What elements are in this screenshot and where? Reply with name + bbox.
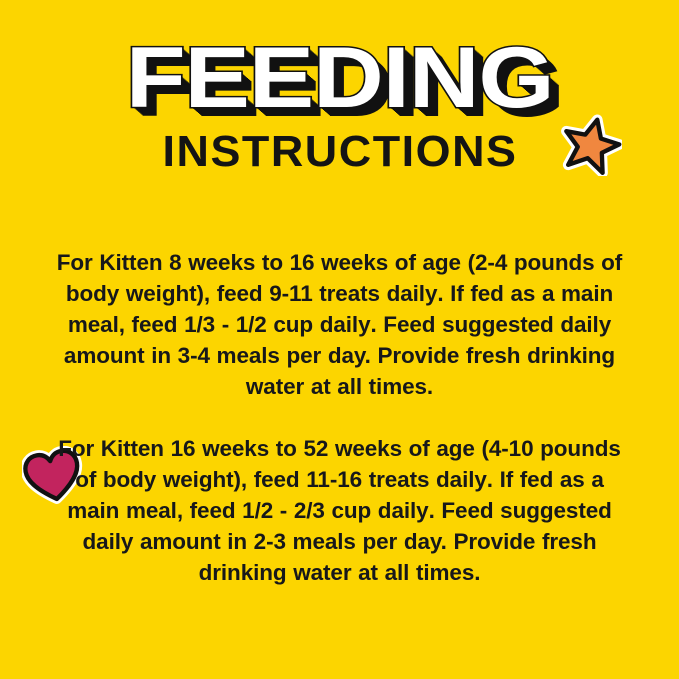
feeding-instructions-poster: FEEDING INSTRUCTIONS For Kitten 8 weeks … [0,0,679,679]
feeding-instruction-paragraph: For Kitten 16 weeks to 52 weeks of age (… [50,433,630,588]
emphasis-text: 8 weeks to 16 weeks of age [169,250,461,275]
page-title: FEEDING [126,38,554,120]
feeding-instruction-paragraph: For Kitten 8 weeks to 16 weeks of age (2… [50,247,630,402]
emphasis-text: 1/2 - 2/3 cup daily [242,498,428,523]
page-subtitle: INSTRUCTIONS [162,127,517,177]
title-container: FEEDING [0,38,679,120]
body-text: For Kitten [57,250,169,275]
emphasis-text: 9-11 treats daily [269,281,437,306]
emphasis-text: 11-16 treats daily [306,467,487,492]
emphasis-text: 1/3 - 1/2 cup daily [184,312,370,337]
body-text: For Kitten [58,436,170,461]
emphasis-text: 16 weeks to 52 weeks of age [171,436,475,461]
subtitle-container: INSTRUCTIONS [0,127,679,177]
